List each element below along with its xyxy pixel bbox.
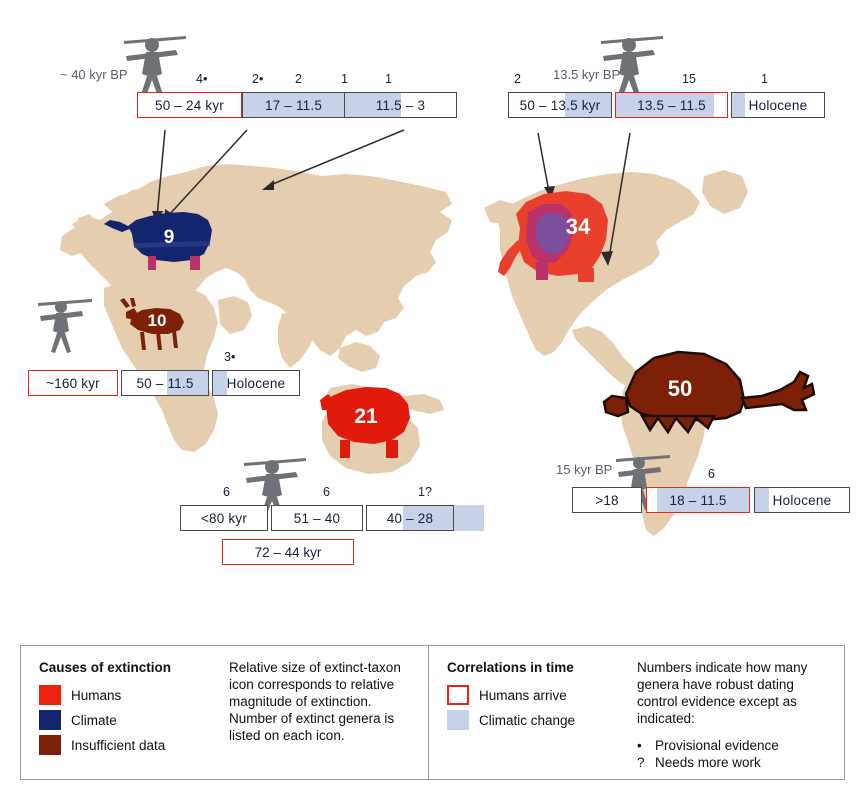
- hunter-legs-africa: [51, 333, 71, 353]
- africa-box-0-label: ~160 kyr: [39, 376, 107, 391]
- australia-number-0: 6: [223, 485, 230, 499]
- africa-timeline-row: ~160 kyr 50 – 11.5 Holocene: [28, 370, 300, 396]
- humans-arrive-swatch: [447, 685, 469, 705]
- eurasia-box-2-label: 11.5 – 3: [369, 98, 432, 113]
- humans-color-swatch: [39, 685, 61, 705]
- rhino-genera-count: 9: [164, 227, 175, 248]
- legend-item-humans-label: Humans: [71, 688, 121, 703]
- australia-number-2: 1?: [418, 485, 432, 499]
- legend-numbers-note: Numbers indicate how many genera have ro…: [637, 660, 832, 728]
- south-america-box-2-label: Holocene: [766, 493, 839, 508]
- north-america-box-2[interactable]: Holocene: [731, 92, 825, 118]
- eurasia-number-4: 1: [385, 72, 392, 86]
- legend-causes-column: Causes of extinction Humans Climate Insu…: [39, 660, 229, 779]
- needs-more-work-label: Needs more work: [655, 754, 761, 772]
- rhino-leg-front: [148, 256, 156, 270]
- south-america-box-0-label: >18: [588, 493, 626, 508]
- insufficient-data-color-swatch: [39, 735, 61, 755]
- eurasia-timeline-row: 50 – 24 kyr 17 – 11.5 11.5 – 3: [137, 92, 457, 118]
- eurasia-arrival-caption: ~ 40 kyr BP: [60, 67, 128, 82]
- diprotodon-genera-count: 21: [354, 405, 378, 428]
- north-america-box-0-label: 50 – 13.5 kyr: [513, 98, 608, 113]
- legend-numbers-note-column: Numbers indicate how many genera have ro…: [637, 660, 844, 779]
- legend-item-climatic-change: Climatic change: [447, 710, 637, 730]
- legend-item-insufficient-data-label: Insufficient data: [71, 738, 165, 753]
- central-america-landmass: [572, 326, 640, 388]
- eurasia-box-human-arrival[interactable]: 50 – 24 kyr: [137, 92, 242, 118]
- australia-box-0-label: <80 kyr: [194, 511, 254, 526]
- provisional-evidence-label: Provisional evidence: [655, 737, 779, 755]
- mammoth-legs-rear: [578, 268, 594, 282]
- australia-number-1: 6: [323, 485, 330, 499]
- eurasia-box-climate-1[interactable]: 17 – 11.5: [242, 92, 345, 118]
- north-america-arrival-caption: 13.5 kyr BP: [553, 67, 620, 82]
- eurasia-number-2: 2: [295, 72, 302, 86]
- australia-box-1[interactable]: 51 – 40: [271, 505, 363, 531]
- legend-item-humans: Humans: [39, 685, 229, 705]
- legend-causes-note-column: Relative size of extinct-taxon icon corr…: [229, 660, 428, 779]
- glyptodont-genera-count: 50: [668, 376, 692, 401]
- australia-box-0[interactable]: <80 kyr: [180, 505, 268, 531]
- hunter-icon-eurasia: [124, 36, 186, 99]
- africa-box-human-arrival[interactable]: ~160 kyr: [28, 370, 118, 396]
- legend-item-climate: Climate: [39, 710, 229, 730]
- north-america-number-1: 15: [682, 72, 696, 86]
- africa-box-2-label: Holocene: [220, 376, 293, 391]
- south-america-box-1-label: 18 – 11.5: [662, 493, 733, 508]
- legend-correlations-half: Correlations in time Humans arrive Clima…: [428, 646, 844, 779]
- legend-footnotes: • Provisional evidence ? Needs more work: [637, 737, 832, 772]
- australia-timeline-row: <80 kyr 51 – 40 40 – 28: [180, 505, 484, 531]
- legend-correlations-title: Correlations in time: [447, 660, 637, 675]
- north-america-timeline-row: 50 – 13.5 kyr 13.5 – 11.5 Holocene: [508, 92, 825, 118]
- legend-item-climate-label: Climate: [71, 713, 117, 728]
- south-america-box-2[interactable]: Holocene: [754, 487, 850, 513]
- climate-color-swatch: [39, 710, 61, 730]
- figure-legend: Causes of extinction Humans Climate Insu…: [20, 645, 845, 780]
- extinction-figure: 9 10 21 34: [0, 0, 865, 794]
- north-america-box-0[interactable]: 50 – 13.5 kyr: [508, 92, 612, 118]
- legend-causes-half: Causes of extinction Humans Climate Insu…: [21, 646, 428, 779]
- rhino-leg-rear: [190, 256, 200, 270]
- legend-causes-note: Relative size of extinct-taxon icon corr…: [229, 660, 409, 744]
- australia-box-2-label: 40 – 28: [380, 511, 440, 526]
- north-america-box-1[interactable]: 13.5 – 11.5: [615, 92, 728, 118]
- north-america-box-2-label: Holocene: [742, 98, 815, 113]
- south-america-timeline-row: >18 18 – 11.5 Holocene: [572, 487, 850, 513]
- glyptodont-head: [604, 396, 628, 416]
- antelope-genera-count: 10: [148, 311, 167, 330]
- mammoth-legs: [536, 262, 548, 280]
- australia-human-arrival-bar[interactable]: 72 – 44 kyr: [222, 539, 354, 565]
- arabia-landmass: [218, 296, 252, 334]
- australia-box-1-label: 51 – 40: [287, 511, 347, 526]
- eurasia-number-3: 1: [341, 72, 348, 86]
- eurasia-box-climate-2[interactable]: 11.5 – 3: [345, 92, 457, 118]
- south-america-arrival-caption: 15 kyr BP: [556, 462, 612, 477]
- africa-box-2[interactable]: Holocene: [212, 370, 300, 396]
- legend-item-humans-arrive-label: Humans arrive: [479, 688, 567, 703]
- south-america-box-1[interactable]: 18 – 11.5: [646, 487, 750, 513]
- north-america-box-1-label: 13.5 – 11.5: [630, 98, 713, 113]
- hunter-icon-africa: [38, 299, 92, 353]
- north-america-landmass: [496, 172, 700, 356]
- arrow-line-na-1: [538, 133, 549, 192]
- south-america-number-1: 6: [708, 467, 715, 481]
- africa-box-1-label: 50 – 11.5: [129, 376, 200, 391]
- climatic-change-swatch: [447, 710, 469, 730]
- greenland-landmass: [702, 170, 748, 214]
- eurasia-box-0-label: 50 – 24 kyr: [148, 98, 231, 113]
- legend-footnote-provisional: • Provisional evidence: [637, 737, 832, 755]
- legend-item-climatic-change-label: Climatic change: [479, 713, 575, 728]
- australia-human-bar-label: 72 – 44 kyr: [255, 545, 322, 560]
- eurasia-box-1-label: 17 – 11.5: [258, 98, 329, 113]
- india-landmass: [278, 310, 316, 368]
- north-america-number-0: 2: [514, 72, 521, 86]
- africa-landmass: [104, 282, 218, 452]
- legend-causes-title: Causes of extinction: [39, 660, 229, 675]
- africa-number-2: 3•: [224, 350, 235, 364]
- legend-item-humans-arrive: Humans arrive: [447, 685, 637, 705]
- south-america-box-0[interactable]: >18: [572, 487, 642, 513]
- eurasia-number-1: 2•: [252, 72, 263, 86]
- provisional-evidence-mark: •: [637, 737, 655, 755]
- needs-more-work-mark: ?: [637, 754, 655, 772]
- southeast-asia-landmass: [338, 342, 380, 372]
- australia-trailing-climate-band: [454, 505, 484, 531]
- legend-footnote-needs-work: ? Needs more work: [637, 754, 832, 772]
- africa-box-1[interactable]: 50 – 11.5: [121, 370, 209, 396]
- north-america-number-2: 1: [761, 72, 768, 86]
- legend-item-insufficient-data: Insufficient data: [39, 735, 229, 755]
- legend-correlations-column: Correlations in time Humans arrive Clima…: [447, 660, 637, 779]
- mammoth-genera-count: 34: [566, 214, 591, 239]
- glyptodont-tail: [742, 372, 814, 410]
- australia-box-2[interactable]: 40 – 28: [366, 505, 454, 531]
- eurasia-number-0: 4•: [196, 72, 207, 86]
